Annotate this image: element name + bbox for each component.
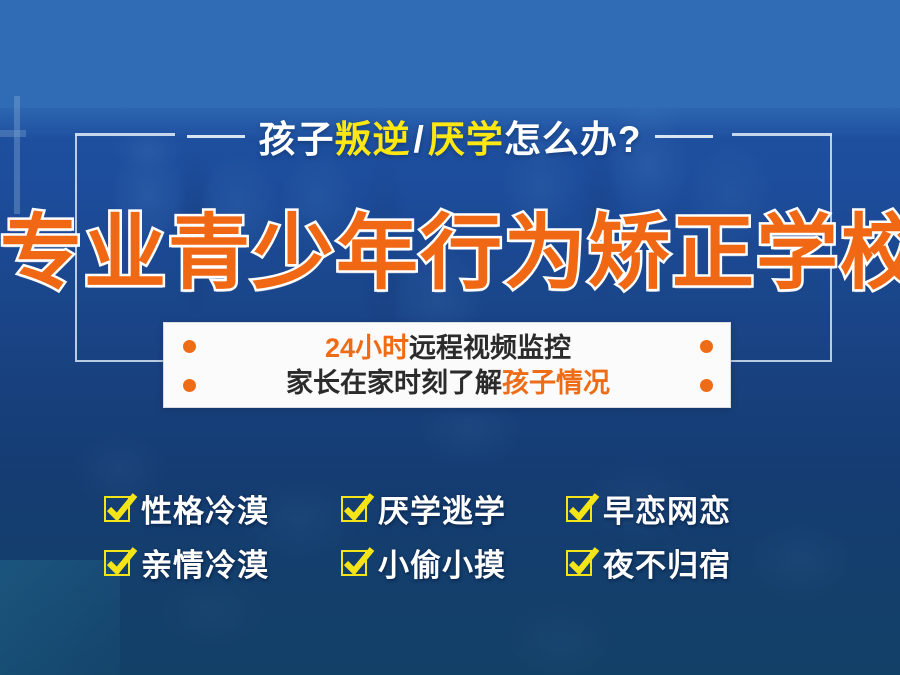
bullet-dot-top-right <box>700 340 713 353</box>
list-item-label: 夜不归宿 <box>603 540 731 585</box>
info-box-line-1: 24小时远程视频监控 <box>212 331 684 366</box>
kicker-highlight-2: 厌学 <box>428 119 504 160</box>
list-item: 夜不归宿 <box>566 540 731 585</box>
top-color-band <box>0 0 900 108</box>
kicker-line: 孩子叛逆/厌学怎么办? <box>0 108 900 164</box>
info-box-line-1-highlight: 24小时 <box>325 333 409 363</box>
page-title: 专业青少年行为矫正学校 <box>0 186 900 305</box>
bullet-dot-top-left <box>183 340 196 353</box>
checkbox-checked-icon <box>104 496 130 522</box>
list-item: 小偷小摸 <box>341 540 506 585</box>
promo-banner: 孩子叛逆/厌学怎么办? 专业青少年行为矫正学校 24小时远程视频监控 家长在家时… <box>0 0 900 675</box>
list-item: 厌学逃学 <box>341 486 506 531</box>
list-item: 亲情冷漠 <box>104 540 269 585</box>
kicker-rule-left <box>187 135 245 138</box>
kicker-highlight-1: 叛逆 <box>335 119 411 160</box>
checkbox-checked-icon <box>341 550 367 576</box>
bullet-dot-bottom-left <box>183 379 196 392</box>
info-box-line-2-highlight: 孩子情况 <box>502 368 610 398</box>
info-box: 24小时远程视频监控 家长在家时刻了解孩子情况 <box>163 322 731 408</box>
list-item-label: 厌学逃学 <box>378 486 506 531</box>
background-left-shadow <box>0 560 120 675</box>
info-box-line-1-rest: 远程视频监控 <box>409 333 571 363</box>
checklist-row-1: 性格冷漠 厌学逃学 早恋网恋 <box>104 486 804 530</box>
list-item: 早恋网恋 <box>566 486 731 531</box>
info-box-line-2-rest: 家长在家时刻了解 <box>286 368 502 398</box>
checkbox-checked-icon <box>566 550 592 576</box>
kicker-separator: / <box>411 119 428 160</box>
list-item: 性格冷漠 <box>104 486 269 531</box>
symptom-checklist: 性格冷漠 厌学逃学 早恋网恋 亲情冷漠 小偷小摸 夜不归宿 <box>104 486 804 590</box>
checkbox-checked-icon <box>104 550 130 576</box>
kicker-suffix: 怎么办? <box>504 119 642 160</box>
kicker-text: 孩子叛逆/厌学怎么办? <box>259 109 642 163</box>
list-item-label: 早恋网恋 <box>603 486 731 531</box>
checklist-row-2: 亲情冷漠 小偷小摸 夜不归宿 <box>104 540 804 584</box>
bullet-dot-bottom-right <box>700 379 713 392</box>
info-box-text: 24小时远程视频监控 家长在家时刻了解孩子情况 <box>212 331 684 401</box>
checkbox-checked-icon <box>341 496 367 522</box>
checkbox-checked-icon <box>566 496 592 522</box>
kicker-rule-right <box>655 135 713 138</box>
list-item-label: 亲情冷漠 <box>141 540 269 585</box>
info-box-line-2: 家长在家时刻了解孩子情况 <box>212 366 684 401</box>
list-item-label: 性格冷漠 <box>141 486 269 531</box>
kicker-prefix: 孩子 <box>259 119 335 160</box>
list-item-label: 小偷小摸 <box>378 540 506 585</box>
